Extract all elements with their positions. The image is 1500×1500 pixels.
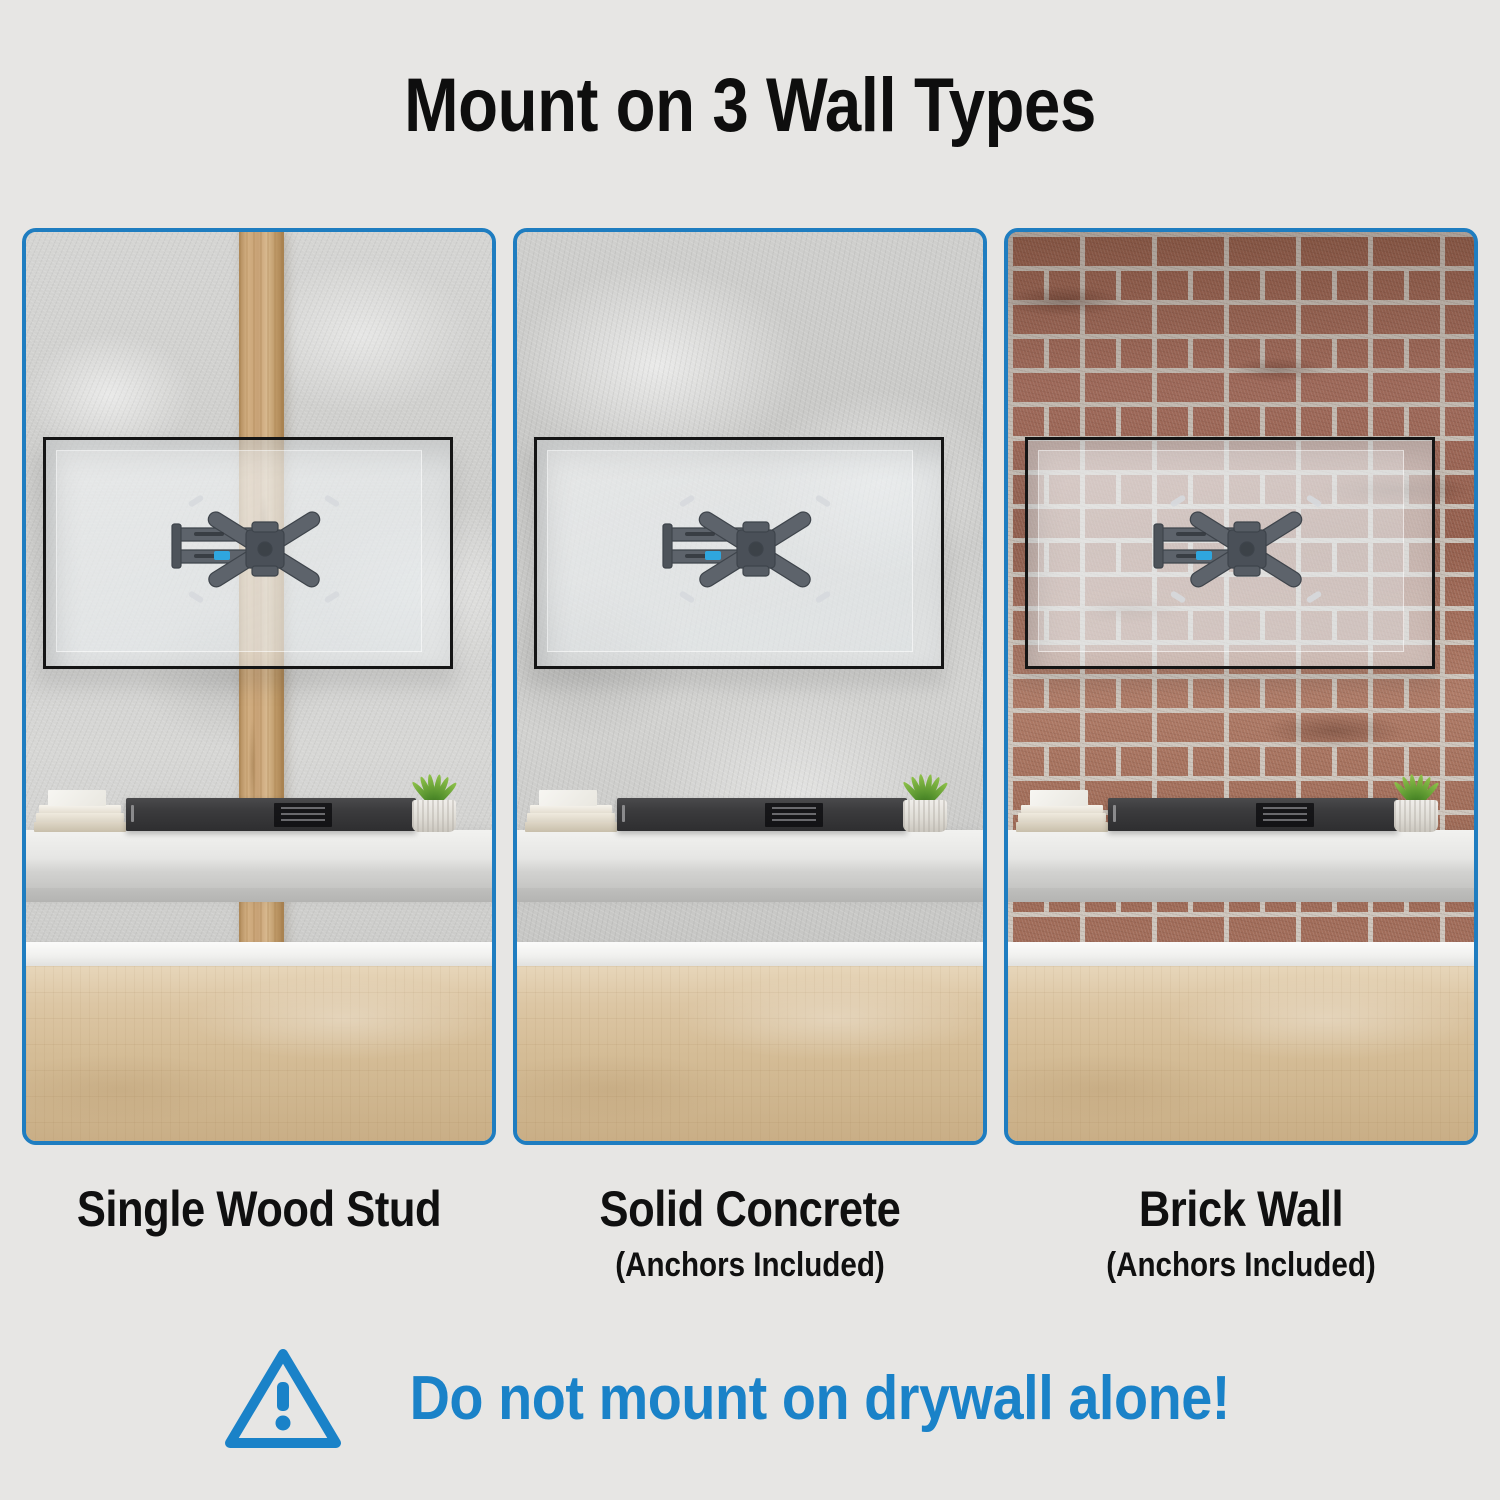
soundbar	[126, 798, 416, 831]
caption-row: Single Wood Stud Solid Concrete (Anchors…	[22, 1180, 1478, 1285]
potted-plant	[889, 772, 961, 832]
floating-shelf	[1008, 830, 1474, 888]
articulating-tv-mount	[164, 478, 364, 620]
caption-solid-concrete: Solid Concrete (Anchors Included)	[513, 1180, 987, 1285]
wood-floor	[1008, 966, 1474, 1141]
shelf-front-edge	[1008, 888, 1474, 902]
caption-title: Solid Concrete	[544, 1180, 956, 1238]
plant-pot	[1394, 800, 1438, 832]
caption-title: Single Wood Stud	[53, 1180, 465, 1238]
panel-row	[22, 228, 1478, 1145]
soundbar-display	[765, 803, 823, 827]
baseboard	[1008, 942, 1474, 966]
caption-brick-wall: Brick Wall (Anchors Included)	[1004, 1180, 1478, 1285]
caption-title: Brick Wall	[1035, 1180, 1447, 1238]
warning-text: Do not mount on drywall alone!	[410, 1363, 1230, 1434]
potted-plant	[398, 772, 470, 832]
baseboard	[26, 942, 492, 966]
soundbar	[617, 798, 907, 831]
plant-pot	[412, 800, 456, 832]
stacked-books	[525, 802, 617, 832]
brand-accent	[214, 551, 230, 560]
soundbar-display	[1256, 803, 1314, 827]
panel-solid-concrete[interactable]	[513, 228, 987, 1145]
stacked-books	[1016, 802, 1108, 832]
floating-shelf	[26, 830, 492, 888]
soundbar	[1108, 798, 1398, 831]
potted-plant	[1380, 772, 1452, 832]
shelf-front-edge	[26, 888, 492, 902]
wood-floor	[26, 966, 492, 1141]
floating-shelf	[517, 830, 983, 888]
soundbar-display	[274, 803, 332, 827]
brand-accent	[705, 551, 721, 560]
caption-single-wood-stud: Single Wood Stud	[22, 1180, 496, 1285]
wall-types-infographic: Mount on 3 Wall Types	[0, 0, 1500, 1500]
panel-single-wood-stud[interactable]	[22, 228, 496, 1145]
articulating-tv-mount	[655, 478, 855, 620]
drywall-warning: Do not mount on drywall alone!	[0, 1346, 1500, 1450]
panel-brick-wall[interactable]	[1004, 228, 1478, 1145]
brand-accent	[1196, 551, 1212, 560]
baseboard	[517, 942, 983, 966]
page-title: Mount on 3 Wall Types	[105, 62, 1395, 149]
caption-subtitle: (Anchors Included)	[1035, 1246, 1447, 1285]
stacked-books	[34, 802, 126, 832]
articulating-tv-mount	[1146, 478, 1346, 620]
warning-triangle-icon	[224, 1346, 342, 1450]
shelf-front-edge	[517, 888, 983, 902]
plant-pot	[903, 800, 947, 832]
wood-floor	[517, 966, 983, 1141]
caption-subtitle: (Anchors Included)	[544, 1246, 956, 1285]
